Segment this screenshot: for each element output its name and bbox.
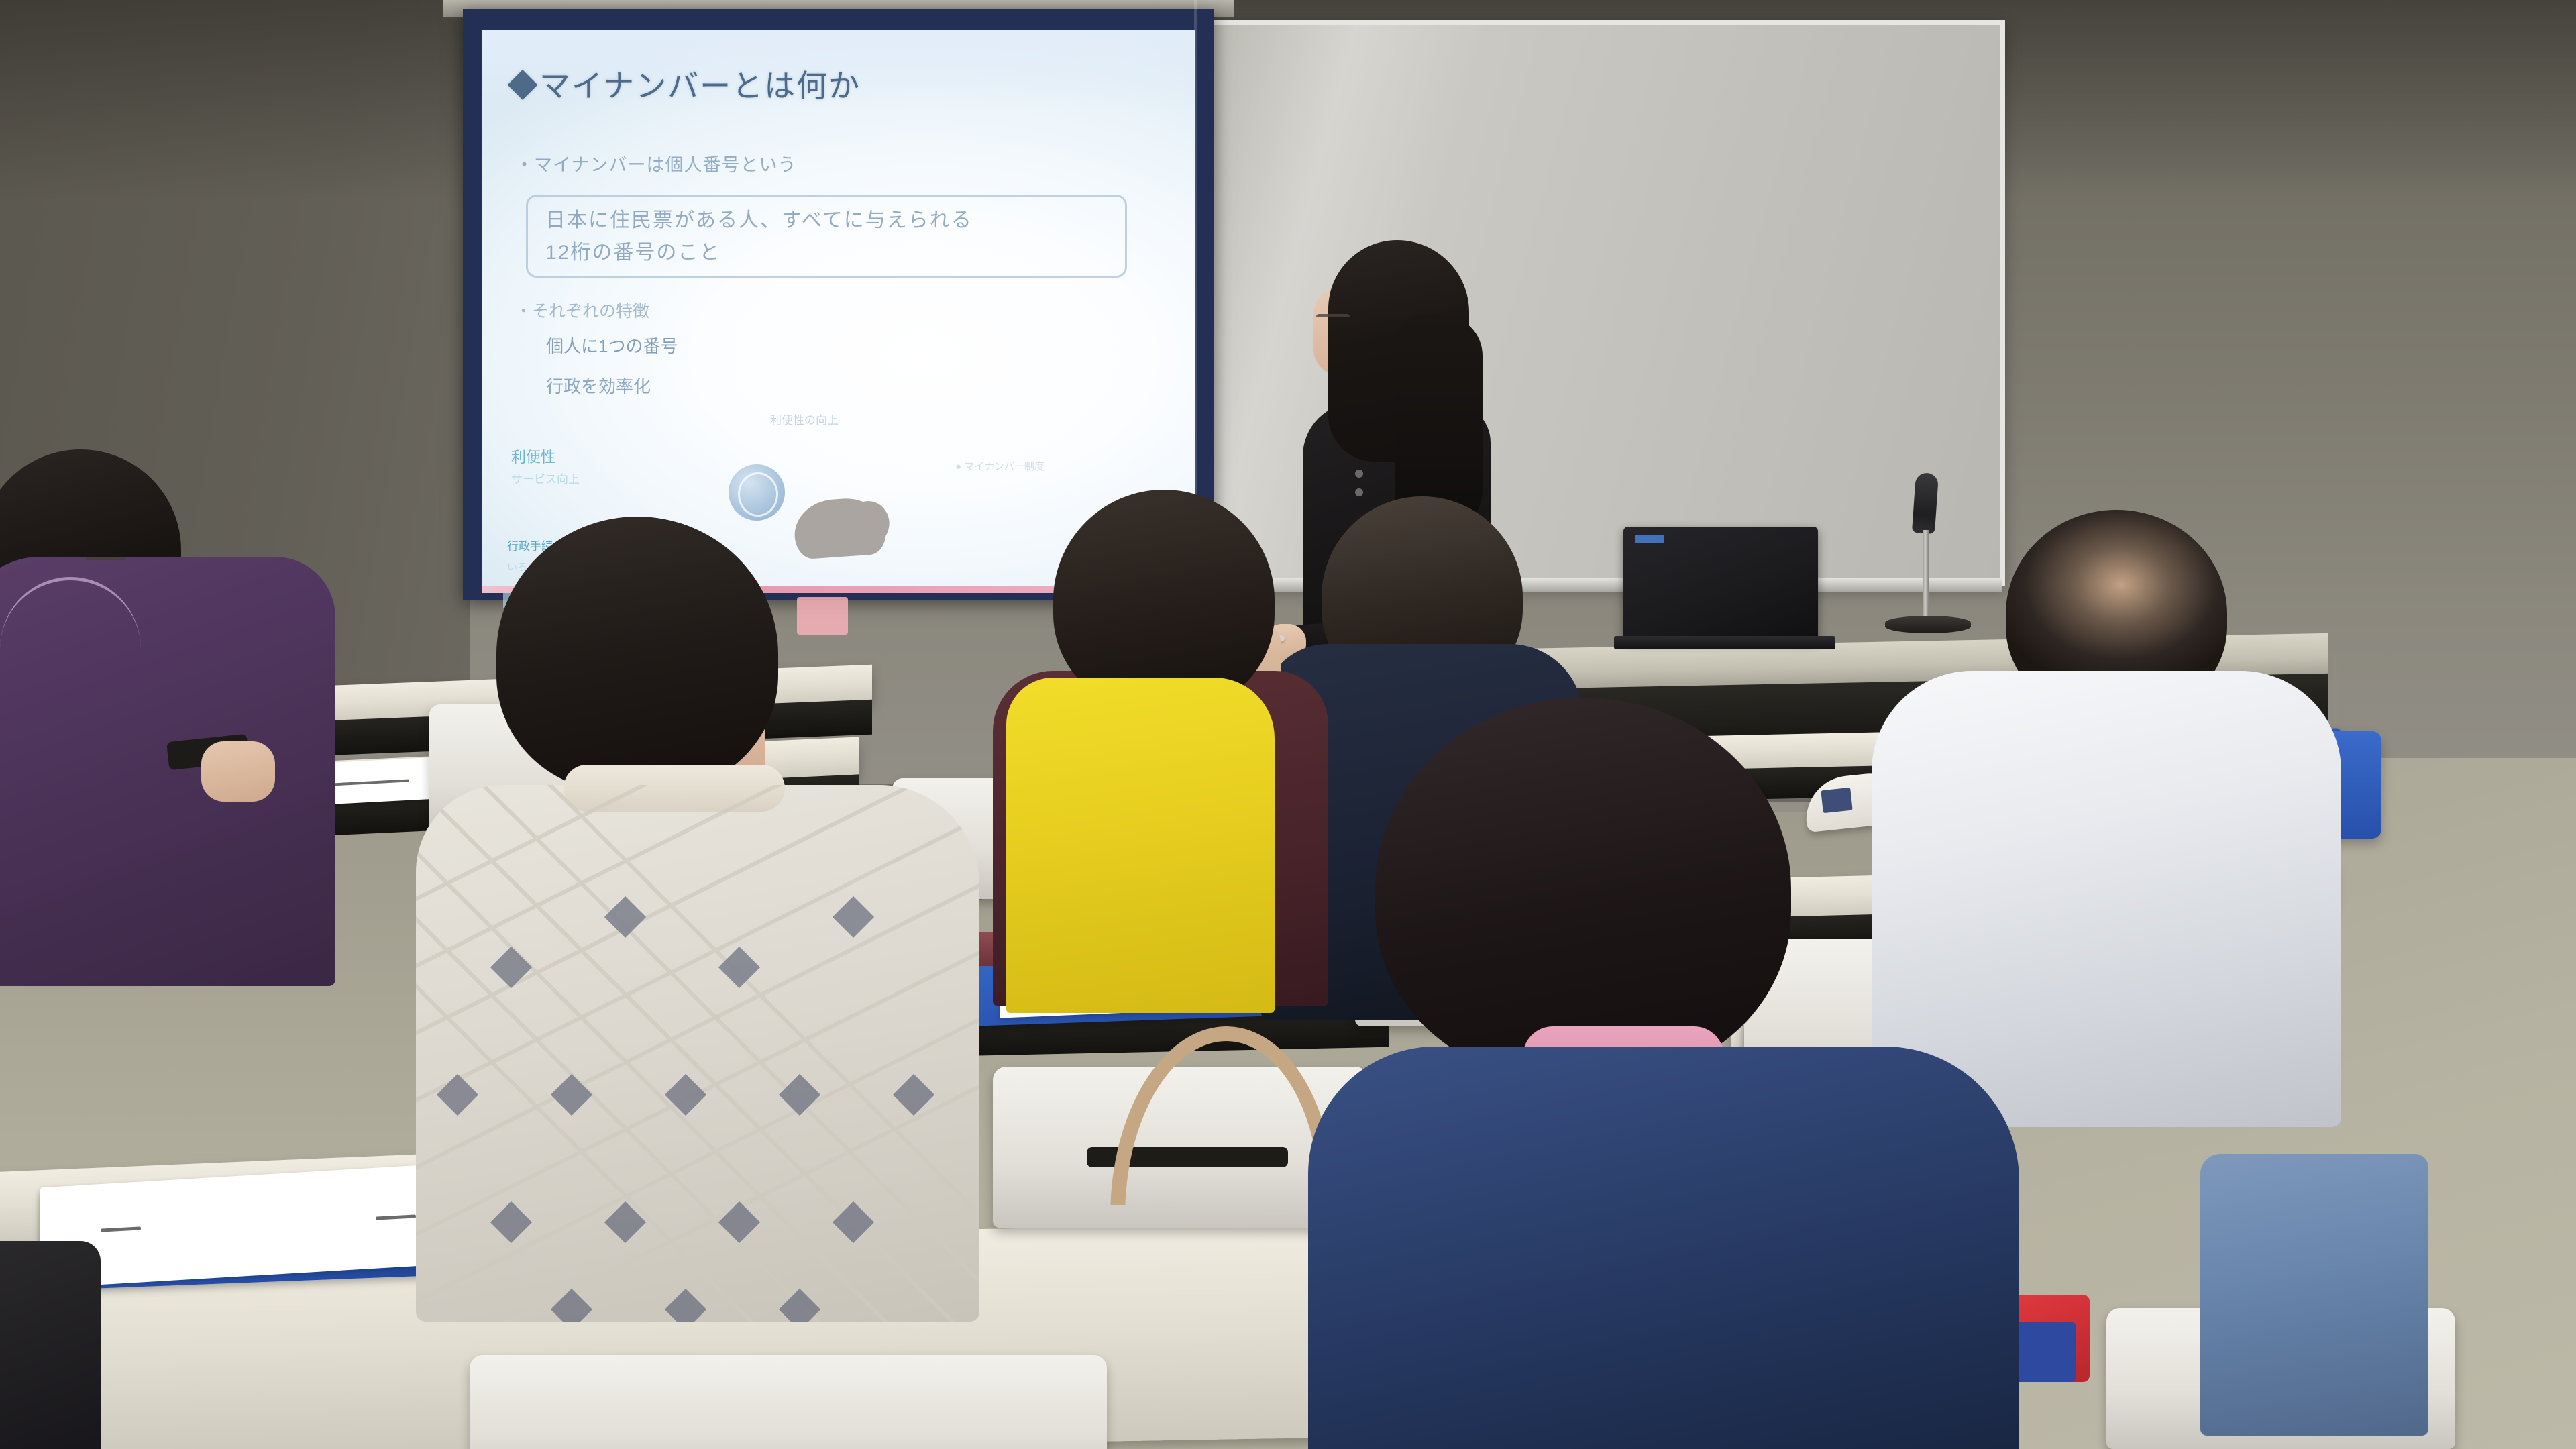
laptop-base — [1614, 636, 1835, 649]
cap-logo-icon — [1821, 788, 1852, 813]
projection-surface: ◆マイナンバーとは何か ・マイナンバーは個人番号という 日本に住民票がある人、す… — [482, 30, 1195, 593]
pink-block-icon — [797, 597, 848, 635]
slide-definition-box: 日本に住民票がある人、すべてに与えられる 12桁の番号のこと — [526, 195, 1127, 278]
slide-sub-line-1: 個人に1つの番号 — [546, 333, 678, 358]
presentation-slide: ◆マイナンバーとは何か ・マイナンバーは個人番号という 日本に住民票がある人、す… — [482, 30, 1195, 593]
slide-sub-line-2: 行政を効率化 — [546, 373, 651, 398]
microphone-stand — [1923, 530, 1929, 617]
cloud-icon — [792, 496, 888, 559]
necklace-strap — [0, 577, 141, 721]
slide-center-note: 利便性の向上 — [770, 411, 839, 427]
slide-bullet-2: ・それぞれの特徴 — [515, 298, 649, 322]
attendee-jeans — [2200, 1154, 2428, 1436]
microphone-icon[interactable] — [1912, 472, 1939, 534]
jacket-buttons — [1355, 470, 1363, 478]
chair[interactable] — [470, 1355, 1107, 1449]
slide-tag-a: 利便性 — [511, 445, 555, 467]
globe-icon — [729, 464, 785, 521]
attendee-head — [1375, 698, 1791, 1080]
attendee-hand — [201, 741, 275, 802]
argyle-pattern — [416, 785, 979, 1322]
attendee-navy-sweater — [1308, 1046, 2019, 1449]
attendee-yellow-vest — [1006, 678, 1275, 1013]
laptop[interactable] — [1623, 527, 1818, 641]
glasses-icon — [86, 557, 125, 570]
slide-box-line-1: 日本に住民票がある人、すべてに与えられる — [545, 203, 973, 233]
slide-bullet-1: ・マイナンバーは個人番号という — [515, 150, 796, 176]
slide-box-line-2: 12桁の番号のこと — [545, 235, 720, 265]
laptop-logo-icon — [1635, 535, 1664, 543]
slide-tag-a-sub: サービス向上 — [511, 470, 580, 486]
attendee-head — [496, 517, 778, 792]
glasses-icon — [1316, 314, 1350, 326]
microphone-base — [1885, 616, 1971, 633]
classroom-scene: ◆マイナンバーとは何か ・マイナンバーは個人番号という 日本に住民票がある人、す… — [0, 0, 2576, 1449]
foreground-figure — [0, 1241, 101, 1449]
slide-right-note: ● マイナンバー制度 — [955, 459, 1044, 473]
slide-title: ◆マイナンバーとは何か — [507, 62, 861, 106]
